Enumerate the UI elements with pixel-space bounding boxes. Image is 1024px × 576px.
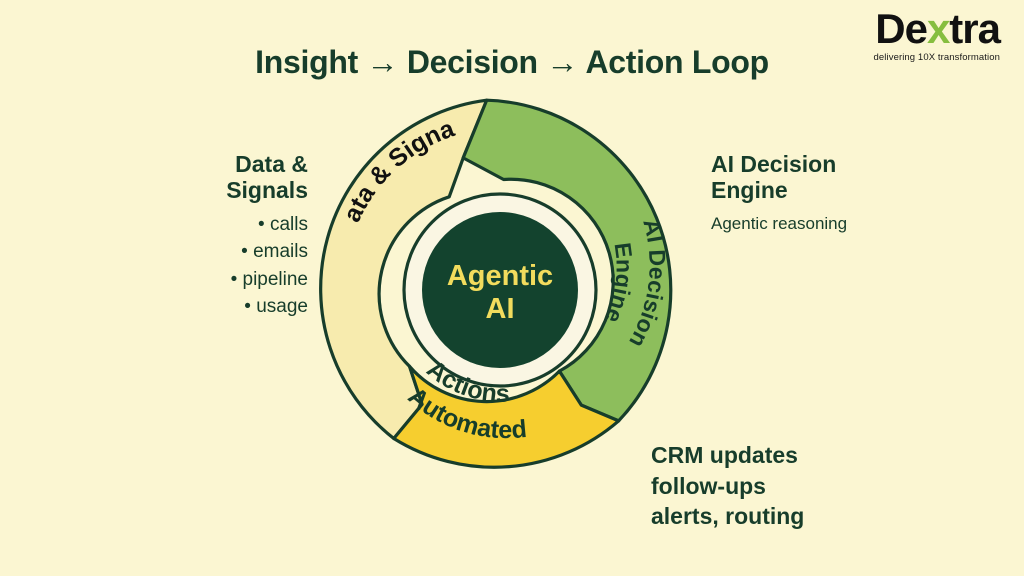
callout-ai-decision-engine: AI Decision Engine Agentic reasoning (711, 152, 961, 234)
list-item-label: emails (253, 241, 308, 262)
callout-line-2: follow-ups (651, 471, 951, 502)
list-item-label: pipeline (243, 269, 309, 290)
insight-decision-action-donut: Agentic AI Data & Signals AI Decision En… (300, 90, 700, 490)
list-item: • emails (150, 238, 308, 266)
callout-line-1: CRM updates (651, 440, 951, 471)
callout-data-signals: Data & Signals • calls • emails • pipeli… (150, 152, 308, 321)
list-item: • calls (150, 211, 308, 239)
heading-line-2: Engine (711, 178, 961, 204)
callout-ai-decision-engine-heading: AI Decision Engine (711, 152, 961, 204)
callout-data-signals-heading: Data & Signals (150, 152, 308, 204)
page-title: Insight → Decision → Action Loop (0, 44, 1024, 81)
core-label-line1: Agentic (447, 260, 553, 292)
callout-data-signals-bullets: • calls • emails • pipeline • usage (150, 211, 308, 321)
list-item: • pipeline (150, 266, 308, 294)
heading-line-1: Data & (150, 152, 308, 178)
slide-canvas: Dextra delivering 10X transformation Ins… (0, 0, 1024, 576)
callout-line-3: alerts, routing (651, 501, 951, 532)
heading-line-2: Signals (150, 178, 308, 204)
core-label-line2: AI (486, 293, 515, 325)
list-item-label: calls (270, 214, 308, 235)
callout-ai-decision-engine-subtext: Agentic reasoning (711, 213, 961, 234)
list-item: • usage (150, 293, 308, 321)
callout-automated-actions: CRM updates follow-ups alerts, routing (651, 440, 951, 532)
list-item-label: usage (256, 296, 308, 317)
heading-line-1: AI Decision (711, 152, 961, 178)
